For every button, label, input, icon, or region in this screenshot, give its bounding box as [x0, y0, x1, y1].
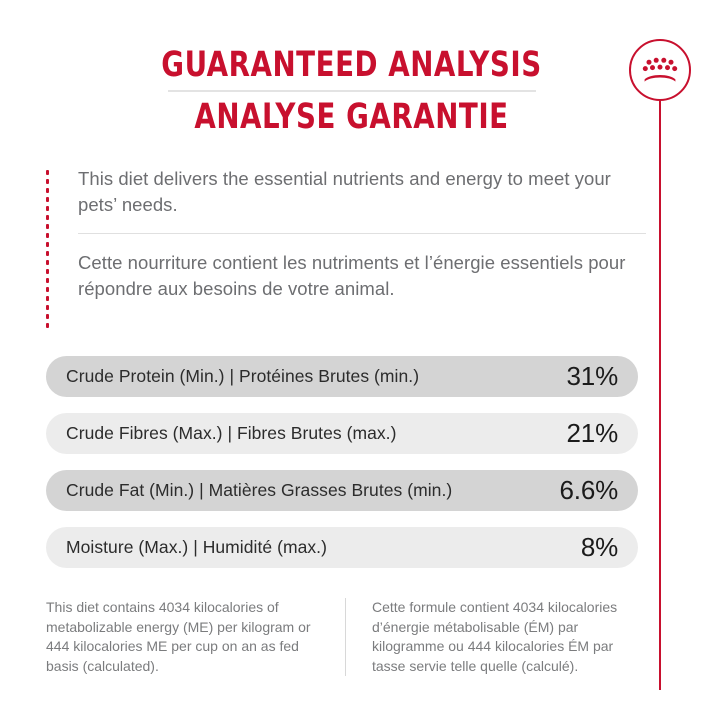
royal-canin-crown-icon: [641, 56, 679, 84]
nutrient-row-crude-fat: Crude Fat (Min.) | Matières Grasses Brut…: [46, 470, 638, 511]
nutrient-row-crude-protein: Crude Protein (Min.) | Protéines Brutes …: [46, 356, 638, 397]
nutrient-row-moisture: Moisture (Max.) | Humidité (max.) 8%: [46, 527, 638, 568]
nutrient-row-crude-fibres: Crude Fibres (Max.) | Fibres Brutes (max…: [46, 413, 638, 454]
nutrient-value: 8%: [571, 532, 618, 563]
nutrient-table: Crude Protein (Min.) | Protéines Brutes …: [46, 356, 638, 584]
brand-logo: [629, 39, 691, 101]
intro-paragraph-english: This diet delivers the essential nutrien…: [78, 166, 646, 218]
footnote-english: This diet contains 4034 kilocalories of …: [46, 598, 345, 676]
intro-body: This diet delivers the essential nutrien…: [78, 166, 646, 302]
logo-circle: [629, 39, 691, 101]
nutrient-label: Crude Fat (Min.) | Matières Grasses Brut…: [66, 480, 452, 501]
nutrient-label: Crude Protein (Min.) | Protéines Brutes …: [66, 366, 419, 387]
title-english: GUARANTEED ANALYSIS: [42, 46, 661, 85]
nutrient-label: Crude Fibres (Max.) | Fibres Brutes (max…: [66, 423, 396, 444]
footnotes: This diet contains 4034 kilocalories of …: [46, 598, 644, 676]
guaranteed-analysis-panel: GUARANTEED ANALYSIS ANALYSE GARANTIE Thi…: [0, 0, 720, 720]
dotted-rail-decoration: [46, 168, 49, 328]
nutrient-value: 21%: [557, 418, 618, 449]
footnote-french: Cette formule contient 4034 kilocalories…: [345, 598, 644, 676]
nutrient-label: Moisture (Max.) | Humidité (max.): [66, 537, 327, 558]
title-divider: [168, 90, 536, 92]
nutrient-value: 6.6%: [550, 475, 618, 506]
intro-block: This diet delivers the essential nutrien…: [46, 166, 646, 302]
page-title: GUARANTEED ANALYSIS ANALYSE GARANTIE: [0, 46, 703, 137]
nutrient-value: 31%: [557, 361, 618, 392]
title-french: ANALYSE GARANTIE: [42, 98, 661, 137]
intro-divider: [78, 233, 646, 234]
logo-stem-line: [659, 98, 661, 690]
intro-paragraph-french: Cette nourriture contient les nutriments…: [78, 250, 646, 302]
